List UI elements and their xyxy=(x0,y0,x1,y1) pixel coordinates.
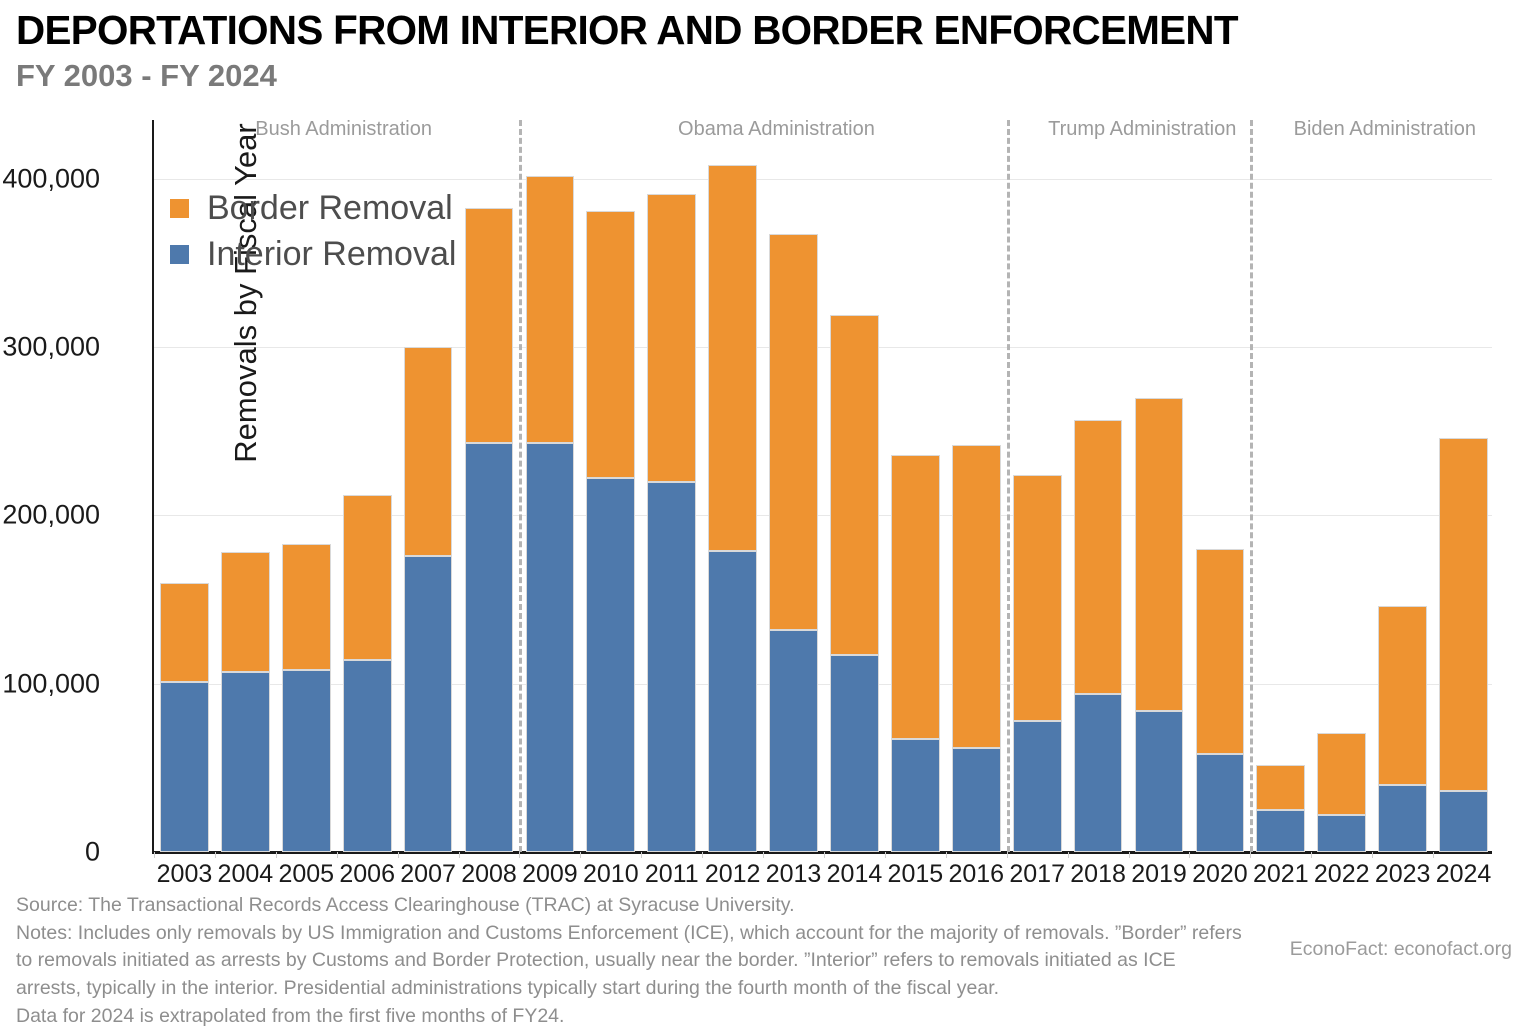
y-axis-tick-label: 300,000 xyxy=(0,332,100,363)
bar-segment-interior-removal[interactable] xyxy=(952,748,1001,852)
bar-segment-border-removal[interactable] xyxy=(1439,438,1488,791)
bar-segment-interior-removal[interactable] xyxy=(830,655,879,852)
x-axis-tick-mark xyxy=(1068,852,1069,858)
footer-line: Notes: Includes only removals by US Immi… xyxy=(16,920,1206,948)
bar-segment-border-removal[interactable] xyxy=(221,552,270,671)
bar-segment-border-removal[interactable] xyxy=(830,315,879,655)
footer-notes: Source: The Transactional Records Access… xyxy=(16,892,1206,1030)
x-axis-tick-label: 2003 xyxy=(157,860,213,889)
bar-segment-border-removal[interactable] xyxy=(1196,549,1245,754)
x-axis-tick-label: 2024 xyxy=(1436,860,1492,889)
x-axis-tick-label: 2010 xyxy=(583,860,639,889)
bar-segment-border-removal[interactable] xyxy=(526,176,575,444)
bar-segment-interior-removal[interactable] xyxy=(282,670,331,852)
bar-segment-interior-removal[interactable] xyxy=(647,482,696,852)
bar-segment-interior-removal[interactable] xyxy=(1196,754,1245,852)
x-axis-tick-label: 2020 xyxy=(1192,860,1248,889)
x-axis-tick-mark xyxy=(946,852,947,858)
x-axis-tick-label: 2009 xyxy=(522,860,578,889)
bar-segment-interior-removal[interactable] xyxy=(465,443,514,852)
x-axis-tick-mark xyxy=(641,852,642,858)
x-axis-tick-label: 2006 xyxy=(339,860,395,889)
bar-segment-interior-removal[interactable] xyxy=(586,478,635,852)
footer-line: arrests, typically in the interior. Pres… xyxy=(16,975,1206,1003)
bar-segment-interior-removal[interactable] xyxy=(1378,785,1427,852)
bar-group[interactable] xyxy=(1196,120,1245,852)
bar-segment-interior-removal[interactable] xyxy=(221,672,270,852)
bar-segment-interior-removal[interactable] xyxy=(708,551,757,852)
bar-segment-interior-removal[interactable] xyxy=(1317,815,1366,852)
footer-line: Source: The Transactional Records Access… xyxy=(16,892,1206,920)
bar-segment-interior-removal[interactable] xyxy=(404,556,453,852)
bar-segment-interior-removal[interactable] xyxy=(526,443,575,852)
bar-group[interactable] xyxy=(1317,120,1366,852)
bar-segment-interior-removal[interactable] xyxy=(891,739,940,852)
x-axis-tick-label: 2022 xyxy=(1314,860,1370,889)
bar-group[interactable] xyxy=(769,120,818,852)
bar-group[interactable] xyxy=(526,120,575,852)
x-axis-tick-label: 2014 xyxy=(827,860,883,889)
bar-segment-border-removal[interactable] xyxy=(586,211,635,479)
bar-group[interactable] xyxy=(830,120,879,852)
legend-swatch-interior xyxy=(170,245,189,264)
bar-segment-interior-removal[interactable] xyxy=(769,630,818,852)
x-axis-tick-mark xyxy=(1250,852,1251,858)
x-axis-tick-mark xyxy=(1311,852,1312,858)
x-axis-tick-mark xyxy=(1189,852,1190,858)
bar-group[interactable] xyxy=(1135,120,1184,852)
bar-segment-interior-removal[interactable] xyxy=(1013,721,1062,852)
bar-segment-border-removal[interactable] xyxy=(769,234,818,629)
x-axis-tick-mark xyxy=(1007,852,1008,858)
bar-segment-border-removal[interactable] xyxy=(1135,398,1184,711)
x-axis-tick-label: 2004 xyxy=(218,860,274,889)
x-axis-tick-mark xyxy=(824,852,825,858)
x-axis-tick-label: 2007 xyxy=(400,860,456,889)
x-axis-tick-label: 2023 xyxy=(1375,860,1431,889)
bar-segment-interior-removal[interactable] xyxy=(1074,694,1123,852)
x-axis-tick-mark xyxy=(215,852,216,858)
x-axis-tick-mark xyxy=(702,852,703,858)
bar-segment-border-removal[interactable] xyxy=(465,208,514,444)
x-axis-tick-label: 2011 xyxy=(645,860,699,889)
bar-segment-border-removal[interactable] xyxy=(404,347,453,556)
x-axis-tick-label: 2017 xyxy=(1009,860,1065,889)
bar-group[interactable] xyxy=(1378,120,1427,852)
bar-group[interactable] xyxy=(1439,120,1488,852)
x-axis-tick-mark xyxy=(580,852,581,858)
legend-item[interactable]: Interior Removal xyxy=(170,231,456,277)
x-axis-tick-label: 2008 xyxy=(461,860,517,889)
y-axis-tick-label: 400,000 xyxy=(0,163,100,194)
x-axis-tick-label: 2019 xyxy=(1131,860,1187,889)
y-axis-tick-label: 200,000 xyxy=(0,500,100,531)
bar-group[interactable] xyxy=(1074,120,1123,852)
x-axis-tick-mark xyxy=(276,852,277,858)
bar-group[interactable] xyxy=(708,120,757,852)
x-axis-tick-mark xyxy=(763,852,764,858)
bar-segment-interior-removal[interactable] xyxy=(343,660,392,852)
footer-line: Data for 2024 is extrapolated from the f… xyxy=(16,1003,1206,1030)
bar-segment-border-removal[interactable] xyxy=(1317,733,1366,815)
bar-segment-border-removal[interactable] xyxy=(1256,765,1305,810)
attribution: EconoFact: econofact.org xyxy=(1290,938,1512,961)
x-axis-tick-mark xyxy=(1433,852,1434,858)
bar-segment-border-removal[interactable] xyxy=(160,583,209,682)
x-axis-tick-label: 2016 xyxy=(948,860,1004,889)
x-axis-tick-mark xyxy=(519,852,520,858)
bar-group[interactable] xyxy=(586,120,635,852)
x-axis-tick-label: 2013 xyxy=(766,860,822,889)
bar-group[interactable] xyxy=(465,120,514,852)
legend-label: Border Removal xyxy=(207,189,453,228)
bar-segment-border-removal[interactable] xyxy=(952,445,1001,748)
bar-segment-interior-removal[interactable] xyxy=(1135,711,1184,852)
footer-line: to removals initiated as arrests by Cust… xyxy=(16,947,1206,975)
bar-segment-border-removal[interactable] xyxy=(343,495,392,660)
x-axis-tick-label: 2005 xyxy=(278,860,334,889)
bar-segment-interior-removal[interactable] xyxy=(1256,810,1305,852)
x-axis-tick-mark xyxy=(398,852,399,858)
legend-item[interactable]: Border Removal xyxy=(170,185,456,231)
bar-segment-border-removal[interactable] xyxy=(708,165,757,550)
bar-segment-interior-removal[interactable] xyxy=(1439,791,1488,852)
y-axis-tick-label: 0 xyxy=(0,837,100,868)
x-axis-tick-label: 2021 xyxy=(1253,860,1309,889)
bar-group[interactable] xyxy=(952,120,1001,852)
bar-group[interactable] xyxy=(891,120,940,852)
bar-segment-border-removal[interactable] xyxy=(1378,606,1427,784)
chart-legend: Border RemovalInterior Removal xyxy=(170,185,456,277)
x-axis-tick-mark xyxy=(337,852,338,858)
x-axis-tick-label: 2012 xyxy=(705,860,761,889)
y-axis-tick-label: 100,000 xyxy=(0,668,100,699)
bar-segment-border-removal[interactable] xyxy=(1074,420,1123,694)
bar-segment-border-removal[interactable] xyxy=(282,544,331,670)
x-axis-tick-label: 2015 xyxy=(888,860,944,889)
x-axis-tick-mark xyxy=(1129,852,1130,858)
x-axis-tick-mark xyxy=(885,852,886,858)
legend-label: Interior Removal xyxy=(207,235,456,274)
bar-segment-border-removal[interactable] xyxy=(647,194,696,482)
bar-group[interactable] xyxy=(1013,120,1062,852)
bar-segment-border-removal[interactable] xyxy=(891,455,940,739)
bar-segment-border-removal[interactable] xyxy=(1013,475,1062,721)
bar-group[interactable] xyxy=(647,120,696,852)
bar-group[interactable] xyxy=(1256,120,1305,852)
bar-segment-interior-removal[interactable] xyxy=(160,682,209,852)
legend-swatch-border xyxy=(170,199,189,218)
x-axis-tick-mark xyxy=(154,852,155,858)
x-axis-tick-label: 2018 xyxy=(1070,860,1126,889)
x-axis-tick-mark xyxy=(459,852,460,858)
x-axis-tick-mark xyxy=(1372,852,1373,858)
